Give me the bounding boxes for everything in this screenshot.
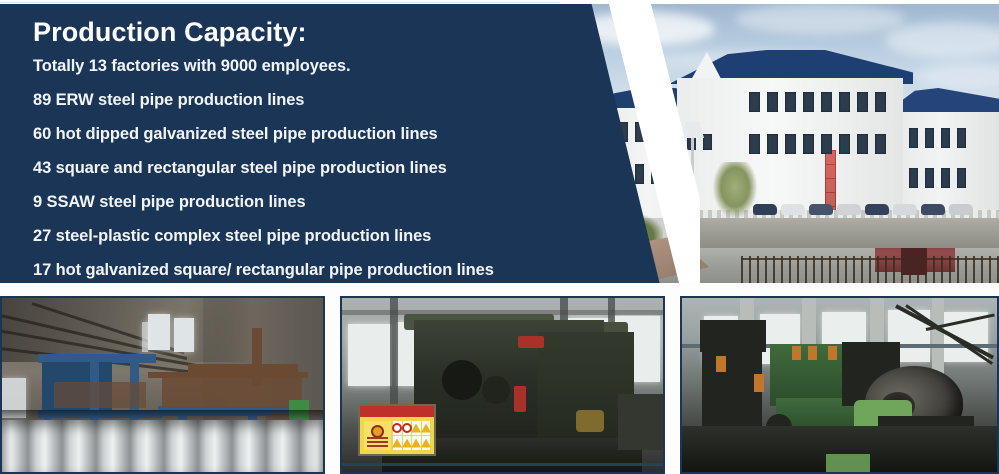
warning-triangle-icon <box>411 439 421 448</box>
warning-triangle-icon <box>402 439 412 448</box>
capacity-line-3: 60 hot dipped galvanized steel pipe prod… <box>33 126 553 143</box>
panel-content: Production Capacity: Totally 13 factorie… <box>33 18 553 296</box>
building-central-block <box>677 78 903 220</box>
prohibition-icon <box>402 423 412 433</box>
capacity-line-1: Totally 13 factories with 9000 employees… <box>33 58 553 75</box>
warning-triangle-icon <box>421 424 431 433</box>
production-capacity-slide: Production Capacity: Totally 13 factorie… <box>0 0 999 474</box>
top-section: Production Capacity: Totally 13 factorie… <box>0 0 999 290</box>
capacity-line-5: 9 SSAW steel pipe production lines <box>33 194 553 211</box>
capacity-line-7: 17 hot galvanized square/ rectangular pi… <box>33 262 553 279</box>
prohibition-icon <box>392 423 402 433</box>
capacity-line-4: 43 square and rectangular steel pipe pro… <box>33 160 553 177</box>
warning-triangle-icon <box>392 439 402 448</box>
capacity-line-6: 27 steel-plastic complex steel pipe prod… <box>33 228 553 245</box>
green-mill-stand-photo <box>680 296 999 474</box>
top-hairline <box>0 2 560 3</box>
safety-notice-board <box>358 404 436 456</box>
steel-coil-stack <box>2 420 323 472</box>
warning-triangle-icon <box>411 424 421 433</box>
safety-board-header <box>360 406 434 417</box>
capacity-line-2: 89 ERW steel pipe production lines <box>33 92 553 109</box>
warning-triangle-icon <box>421 439 431 448</box>
page-title: Production Capacity: <box>33 18 553 46</box>
pipe-forming-machine-photo <box>340 296 665 474</box>
photo-gallery-row <box>0 296 999 474</box>
factory-rolling-line-photo <box>0 296 325 474</box>
